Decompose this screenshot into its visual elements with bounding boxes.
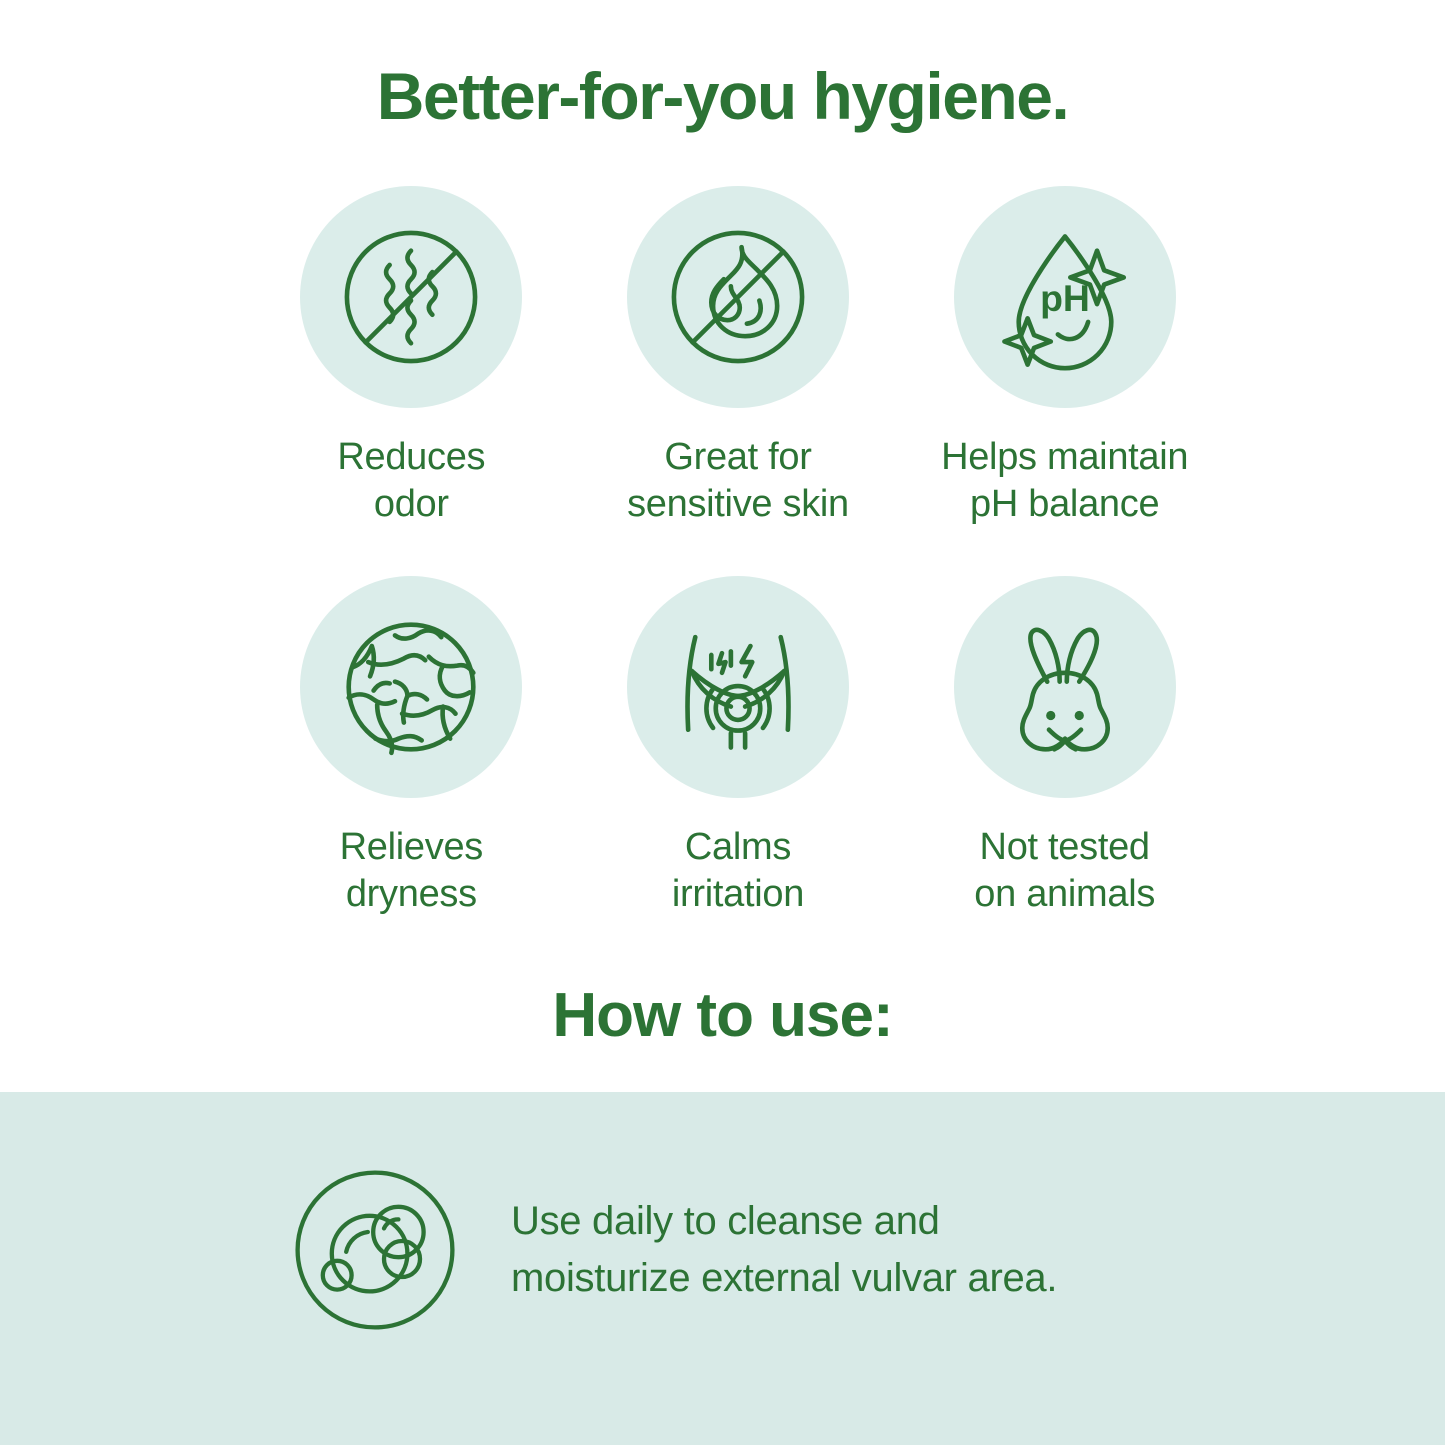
benefit-item-not-tested-on-animals: Not tested on animals bbox=[901, 576, 1228, 966]
ph-droplet-icon: pH bbox=[976, 208, 1154, 386]
no-burning-flame-icon bbox=[649, 208, 827, 386]
page-title: Better-for-you hygiene. bbox=[0, 62, 1445, 131]
badge-circle: pH bbox=[954, 186, 1176, 408]
benefit-item-relieves-dryness: Relieves dryness bbox=[248, 576, 575, 966]
badge-circle bbox=[300, 576, 522, 798]
pelvic-irritation-icon bbox=[649, 598, 827, 776]
no-odor-icon bbox=[322, 208, 500, 386]
benefit-label: Not tested on animals bbox=[974, 824, 1155, 918]
benefit-label: Relieves dryness bbox=[340, 824, 483, 918]
dry-skin-icon bbox=[322, 598, 500, 776]
benefit-label: Reduces odor bbox=[337, 434, 485, 528]
benefit-label: Calms irritation bbox=[672, 824, 804, 918]
badge-circle bbox=[627, 576, 849, 798]
infographic-page: Better-for-you hygiene. Reduces odor bbox=[0, 0, 1445, 1445]
how-to-use-heading: How to use: bbox=[0, 980, 1445, 1051]
how-to-use-row: Use daily to cleanse and moisturize exte… bbox=[285, 1160, 1057, 1340]
how-to-use-text: Use daily to cleanse and moisturize exte… bbox=[511, 1193, 1057, 1307]
badge-circle bbox=[627, 186, 849, 408]
badge-circle bbox=[300, 186, 522, 408]
bubbles-icon bbox=[285, 1160, 465, 1340]
badge-circle bbox=[954, 576, 1176, 798]
ph-label: pH bbox=[1040, 277, 1090, 319]
benefit-item-calms-irritation: Calms irritation bbox=[575, 576, 902, 966]
benefit-item-reduces-odor: Reduces odor bbox=[248, 186, 575, 576]
rabbit-icon bbox=[976, 598, 1154, 776]
benefit-item-sensitive-skin: Great for sensitive skin bbox=[575, 186, 902, 576]
how-to-use-band: Use daily to cleanse and moisturize exte… bbox=[0, 1092, 1445, 1445]
benefit-label: Helps maintain pH balance bbox=[941, 434, 1188, 528]
benefit-label: Great for sensitive skin bbox=[627, 434, 849, 528]
benefits-grid: Reduces odor Great for sensitive skin bbox=[248, 186, 1228, 966]
benefit-item-ph-balance: pH Helps maintain pH balance bbox=[901, 186, 1228, 576]
